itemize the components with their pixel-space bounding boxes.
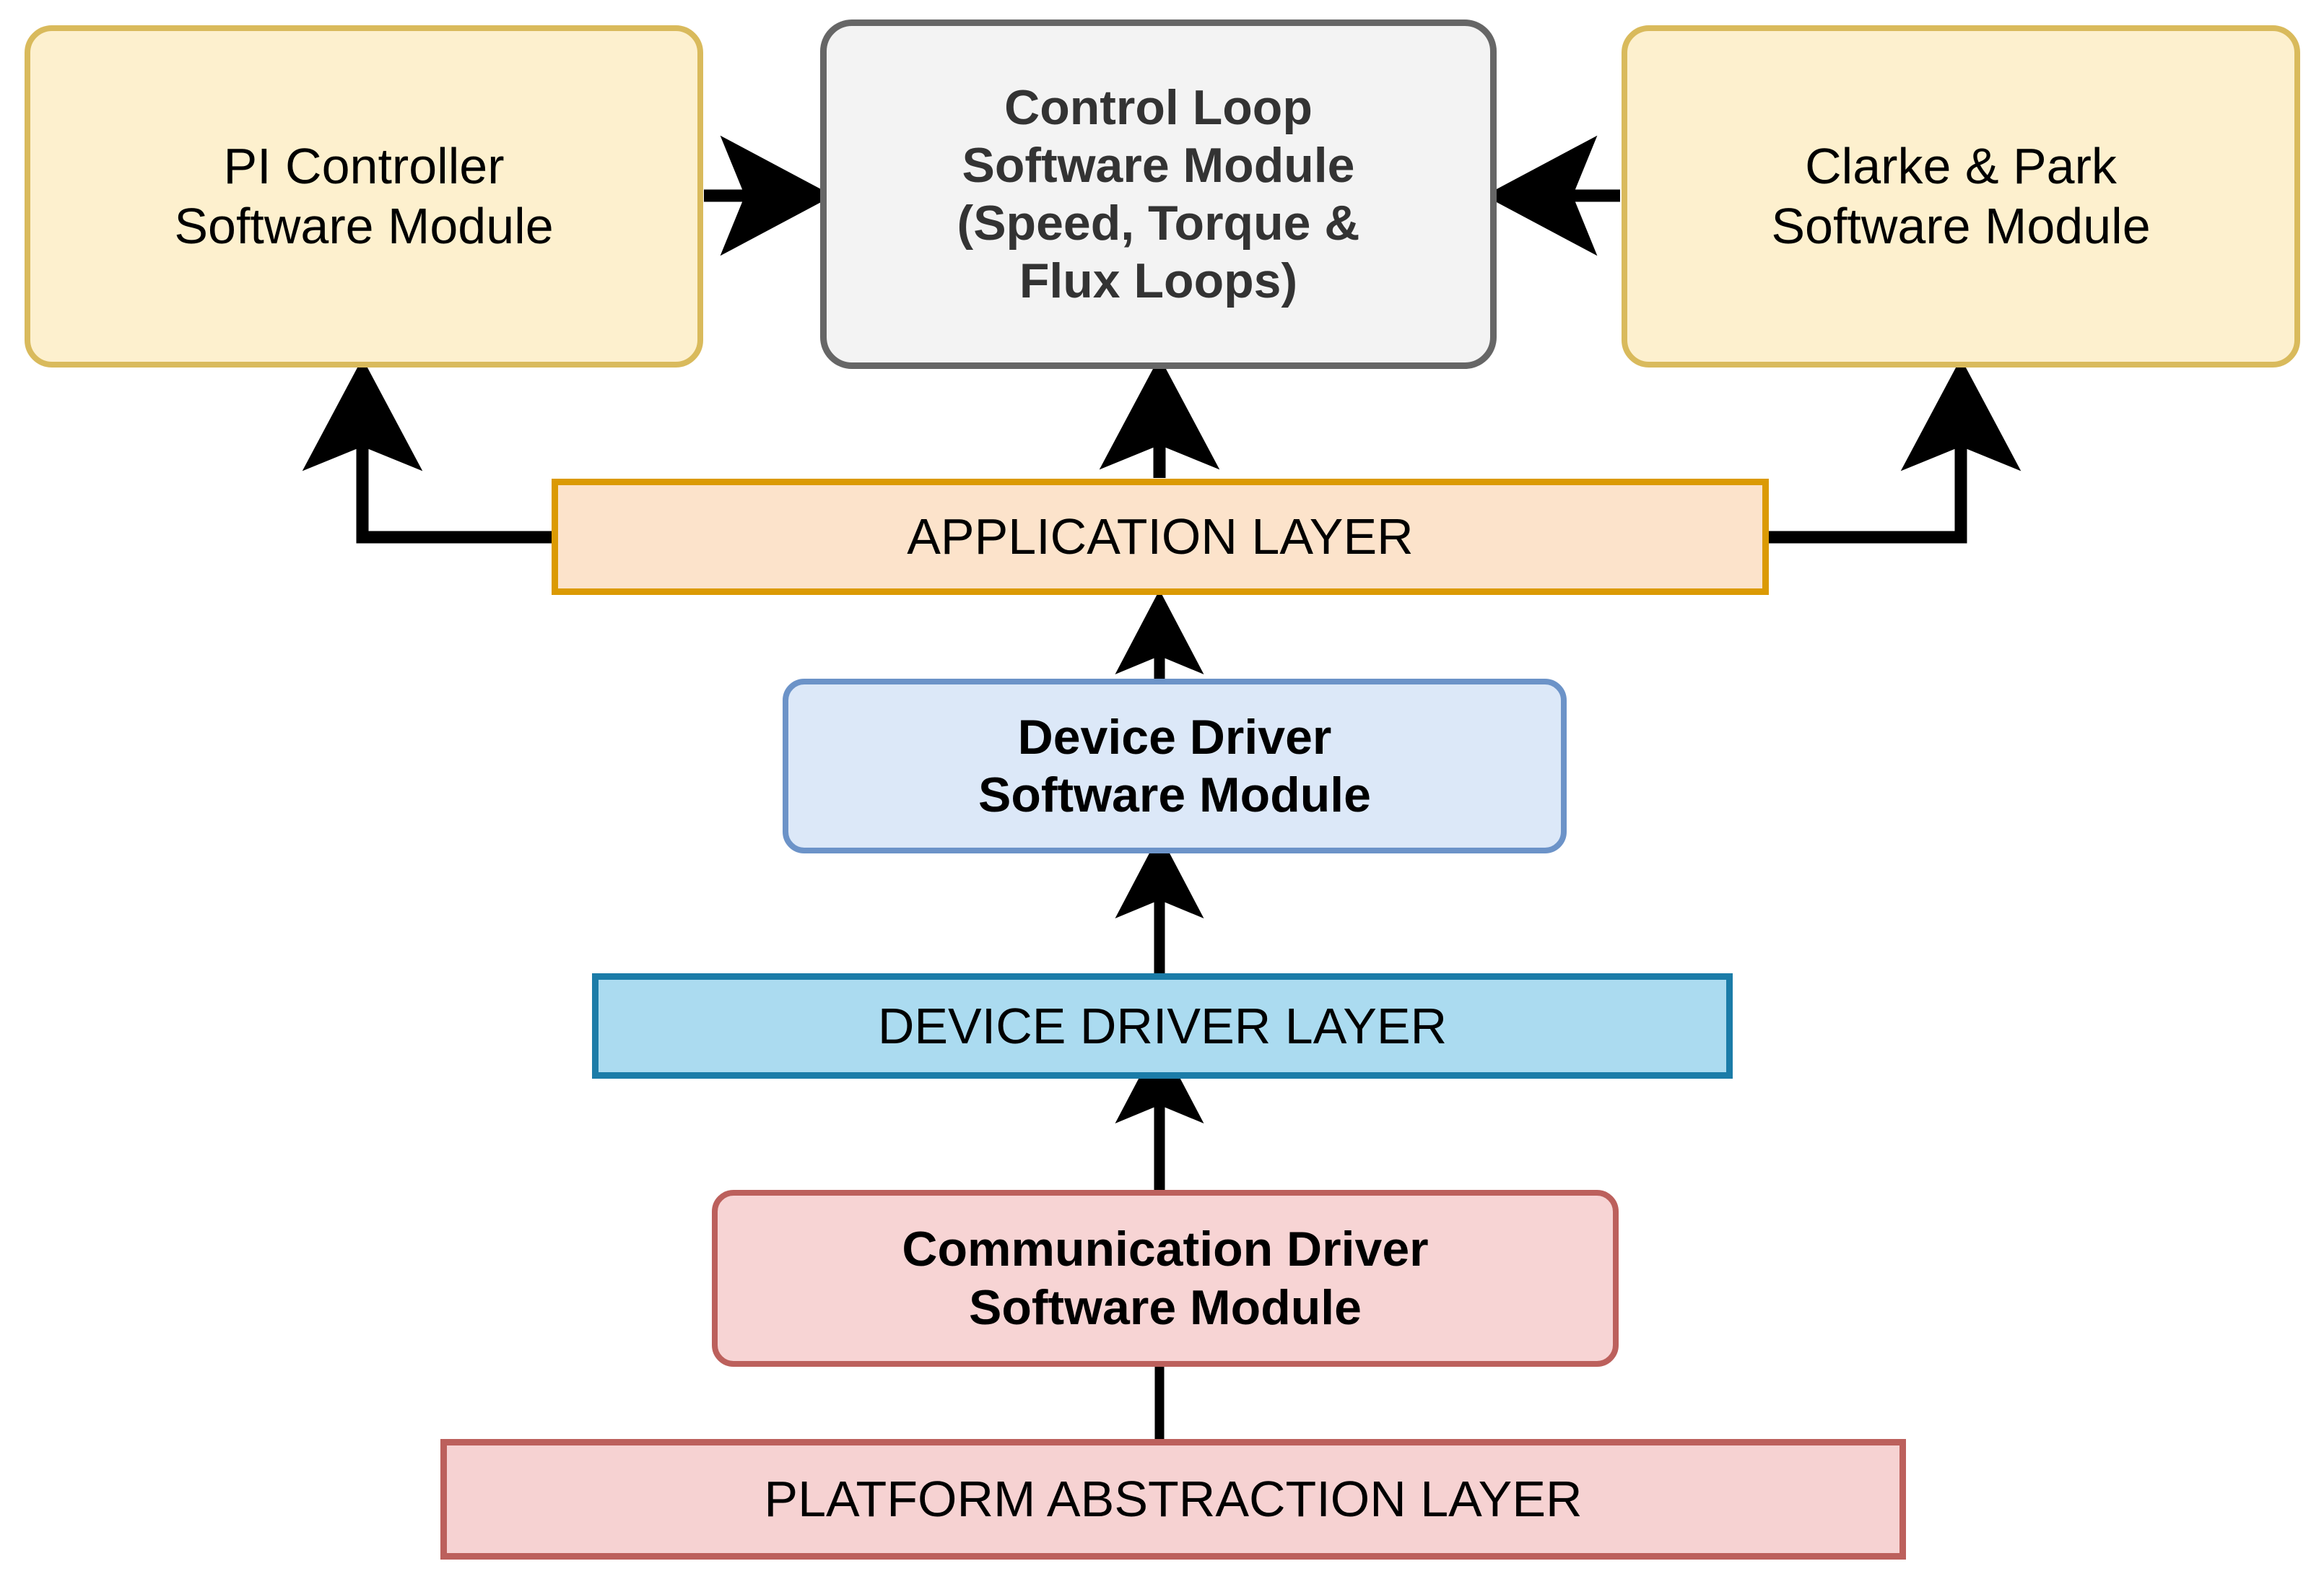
arrow-application-to-clarke: [1768, 383, 1961, 537]
node-clarke-park-software-module[interactable]: Clarke & Park Software Module: [1622, 25, 2300, 368]
arrow-application-to-pi: [362, 383, 552, 537]
node-device-driver-layer[interactable]: DEVICE DRIVER LAYER: [592, 973, 1733, 1079]
node-control-loop-software-module[interactable]: Control Loop Software Module (Speed, Tor…: [820, 19, 1497, 369]
node-platform-abstraction-layer[interactable]: PLATFORM ABSTRACTION LAYER: [440, 1439, 1906, 1560]
node-communication-driver-software-module[interactable]: Communication Driver Software Module: [712, 1190, 1619, 1367]
diagram-canvas: PI Controller Software Module Control Lo…: [0, 0, 2324, 1587]
node-application-layer[interactable]: APPLICATION LAYER: [552, 479, 1769, 595]
node-pi-controller-software-module[interactable]: PI Controller Software Module: [25, 25, 703, 368]
node-device-driver-software-module[interactable]: Device Driver Software Module: [783, 679, 1567, 853]
